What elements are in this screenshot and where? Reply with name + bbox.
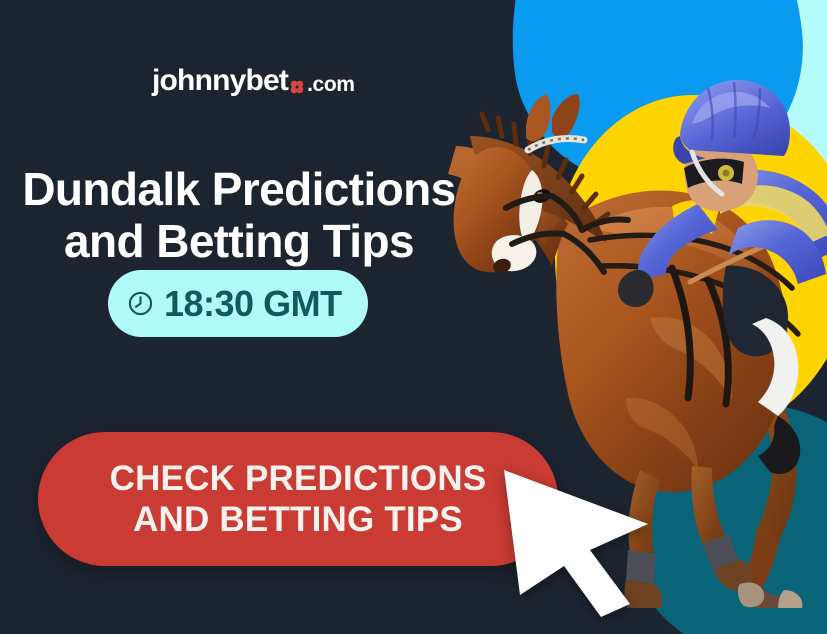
headline-line-1: Dundalk Predictions (0, 163, 478, 215)
cta-line-2: AND BETTING TIPS (133, 499, 463, 540)
clock-icon (128, 291, 153, 316)
page-title: Dundalk Predictions and Betting Tips (0, 163, 478, 268)
promo-banner: johnnybet .com Dundalk Predictions and B… (0, 0, 827, 634)
johnnybet-logo[interactable]: johnnybet .com (152, 66, 355, 96)
logo-tld: .com (307, 74, 354, 96)
yellow-blob (555, 95, 827, 435)
clover-icon (290, 80, 304, 94)
check-predictions-button[interactable]: CHECK PREDICTIONS AND BETTING TIPS (38, 432, 558, 566)
event-time: 18:30 GMT (164, 286, 342, 322)
teal-blob (630, 405, 827, 634)
status-badge: 18:30 GMT (108, 270, 368, 337)
logo-wordmark: johnnybet (152, 66, 288, 96)
headline-line-2: and Betting Tips (0, 215, 478, 267)
cta-line-1: CHECK PREDICTIONS (110, 458, 487, 499)
